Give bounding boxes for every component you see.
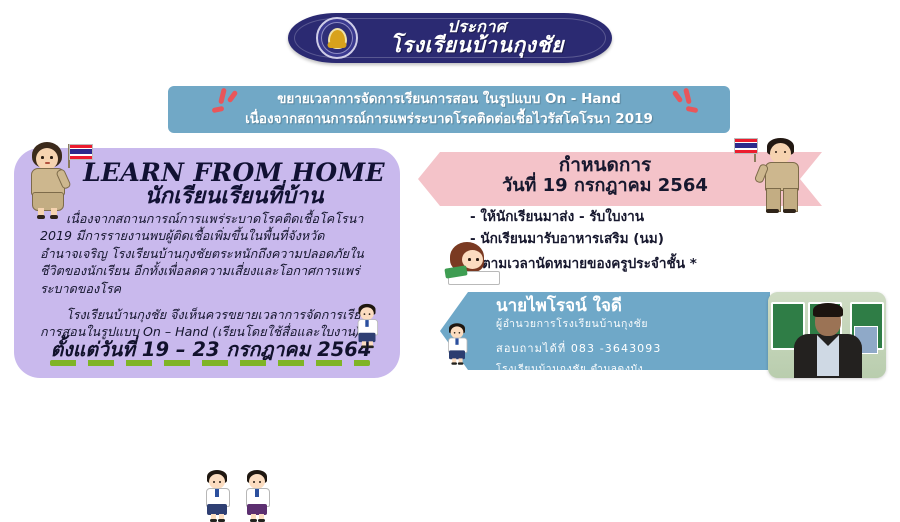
- reading-girl-mascot: [440, 238, 504, 286]
- schedule-note: * ตามเวลานัดหมายของครูประจำชั้น *: [470, 252, 830, 274]
- contact-address: โรงเรียนบ้านกุงชัย ตำบลดงบัง อำเภอเมือง …: [496, 363, 762, 392]
- student-boy-figure-right: [354, 304, 380, 348]
- school-emblem-icon: [316, 17, 358, 59]
- director-name: นายไพโรจน์ ใจดี: [496, 296, 762, 317]
- schedule-item-list: - ให้นักเรียนมาส่ง - รับใบงาน - นักเรียน…: [470, 206, 820, 250]
- header-banner: ประกาศ โรงเรียนบ้านกุงชัย: [288, 13, 612, 63]
- panel-title-english: LEARN FROM HOME: [72, 160, 396, 186]
- header-title: ประกาศ โรงเรียนบ้านกุงชัย: [358, 19, 612, 57]
- female-teacher-mascot: [18, 140, 78, 218]
- subtitle-text: ขยายเวลาการจัดการเรียนการสอน ในรูปแบบ On…: [245, 90, 653, 129]
- panel-title: LEARN FROM HOME นักเรียนเรียนที่บ้าน: [72, 160, 396, 208]
- director-photo: [768, 292, 886, 378]
- address-line-2: อำเภอเมือง จังหวัดอำนาจเจริญ 37120: [496, 378, 762, 393]
- subtitle-line-2: เนื่องจากสถานการณ์การแพร่ระบาดโรคติดต่อเ…: [245, 110, 653, 130]
- address-line-1: โรงเรียนบ้านกุงชัย ตำบลดงบัง: [496, 363, 762, 378]
- student-girl-figure: [242, 470, 272, 522]
- header-line-2: โรงเรียนบ้านกุงชัย: [358, 35, 596, 57]
- contact-phone: สอบถามได้ที่ 083 -3643093: [496, 339, 762, 357]
- subtitle-line-1: ขยายเวลาการจัดการเรียนการสอน ในรูปแบบ On…: [245, 90, 653, 110]
- schedule-item-1: - นักเรียนมารับอาหารเสริม (นม): [470, 228, 820, 250]
- panel-paragraph-1: เนื่องจากสถานการณ์การแพร่ระบาดโรคติดเชื้…: [40, 210, 382, 297]
- spark-burst-left-icon: [208, 88, 242, 118]
- date-range-dashed-underline: [50, 360, 370, 366]
- panel-body: เนื่องจากสถานการณ์การแพร่ระบาดโรคติดเชื้…: [40, 210, 382, 350]
- student-figure-contact: [445, 323, 469, 365]
- announcement-poster: ประกาศ โรงเรียนบ้านกุงชัย ขยายเวลาการจัด…: [0, 0, 900, 400]
- schedule-date: วันที่ 19 กรกฎาคม 2564: [418, 176, 792, 195]
- schedule-item-0: - ให้นักเรียนมาส่ง - รับใบงาน: [470, 206, 820, 228]
- spark-burst-right-icon: [668, 88, 702, 118]
- contact-bar: นายไพโรจน์ ใจดี ผู้อำนวยการโรงเรียนบ้านก…: [440, 292, 770, 370]
- thai-flag-icon-right: [734, 138, 758, 154]
- schedule-heading-block: กำหนดการ วันที่ 19 กรกฎาคม 2564: [418, 155, 792, 195]
- open-book-icon: [448, 271, 500, 285]
- schedule-heading: กำหนดการ: [418, 155, 792, 176]
- thai-flag-icon: [69, 144, 93, 160]
- emblem-ring: [321, 22, 353, 54]
- contact-details: นายไพโรจน์ ใจดี ผู้อำนวยการโรงเรียนบ้านก…: [496, 296, 762, 392]
- director-role: ผู้อำนวยการโรงเรียนบ้านกุงชัย: [496, 317, 762, 333]
- subtitle-bar: ขยายเวลาการจัดการเรียนการสอน ในรูปแบบ On…: [168, 86, 730, 133]
- panel-title-thai: นักเรียนเรียนที่บ้าน: [72, 186, 396, 208]
- student-boy-figure: [202, 470, 232, 522]
- male-teacher-mascot: [752, 136, 810, 216]
